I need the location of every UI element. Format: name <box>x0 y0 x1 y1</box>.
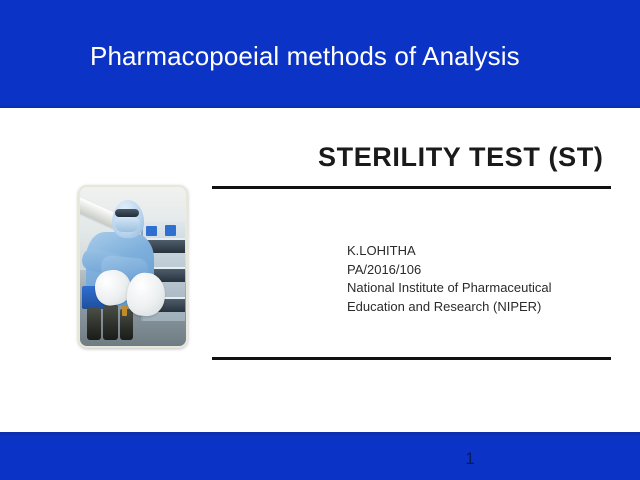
presentation-subject-title: Pharmacopoeial methods of Analysis <box>90 40 520 72</box>
photo-trolley-item <box>146 226 157 236</box>
cleanroom-photo <box>78 185 188 348</box>
photo-sample-bottle <box>87 308 101 340</box>
slide-body: STERILITY TEST (ST) K.LOHITHA PA/2016/10… <box>0 110 640 432</box>
slide-main-title: STERILITY TEST (ST) <box>318 141 603 173</box>
cleanroom-photo-canvas <box>80 187 186 346</box>
author-name: K.LOHITHA <box>347 242 552 261</box>
author-roll-number: PA/2016/106 <box>347 261 552 280</box>
footer-band: 1 <box>0 432 640 480</box>
photo-person-goggles <box>115 209 139 217</box>
author-institute-line-2: Education and Research (NIPER) <box>347 298 552 317</box>
photo-sample-bottle <box>103 305 118 340</box>
title-divider-bottom <box>212 357 611 360</box>
page-number: 1 <box>150 449 640 469</box>
photo-bottle-cap <box>122 305 126 316</box>
presentation-slide: Pharmacopoeial methods of Analysis <box>0 0 640 480</box>
photo-trolley-item <box>165 225 177 236</box>
author-block: K.LOHITHA PA/2016/106 National Institute… <box>347 242 552 316</box>
header-band: Pharmacopoeial methods of Analysis <box>0 0 640 108</box>
photo-person-face-mask <box>115 218 139 232</box>
author-institute-line-1: National Institute of Pharmaceutical <box>347 279 552 298</box>
title-divider-top <box>212 186 611 189</box>
